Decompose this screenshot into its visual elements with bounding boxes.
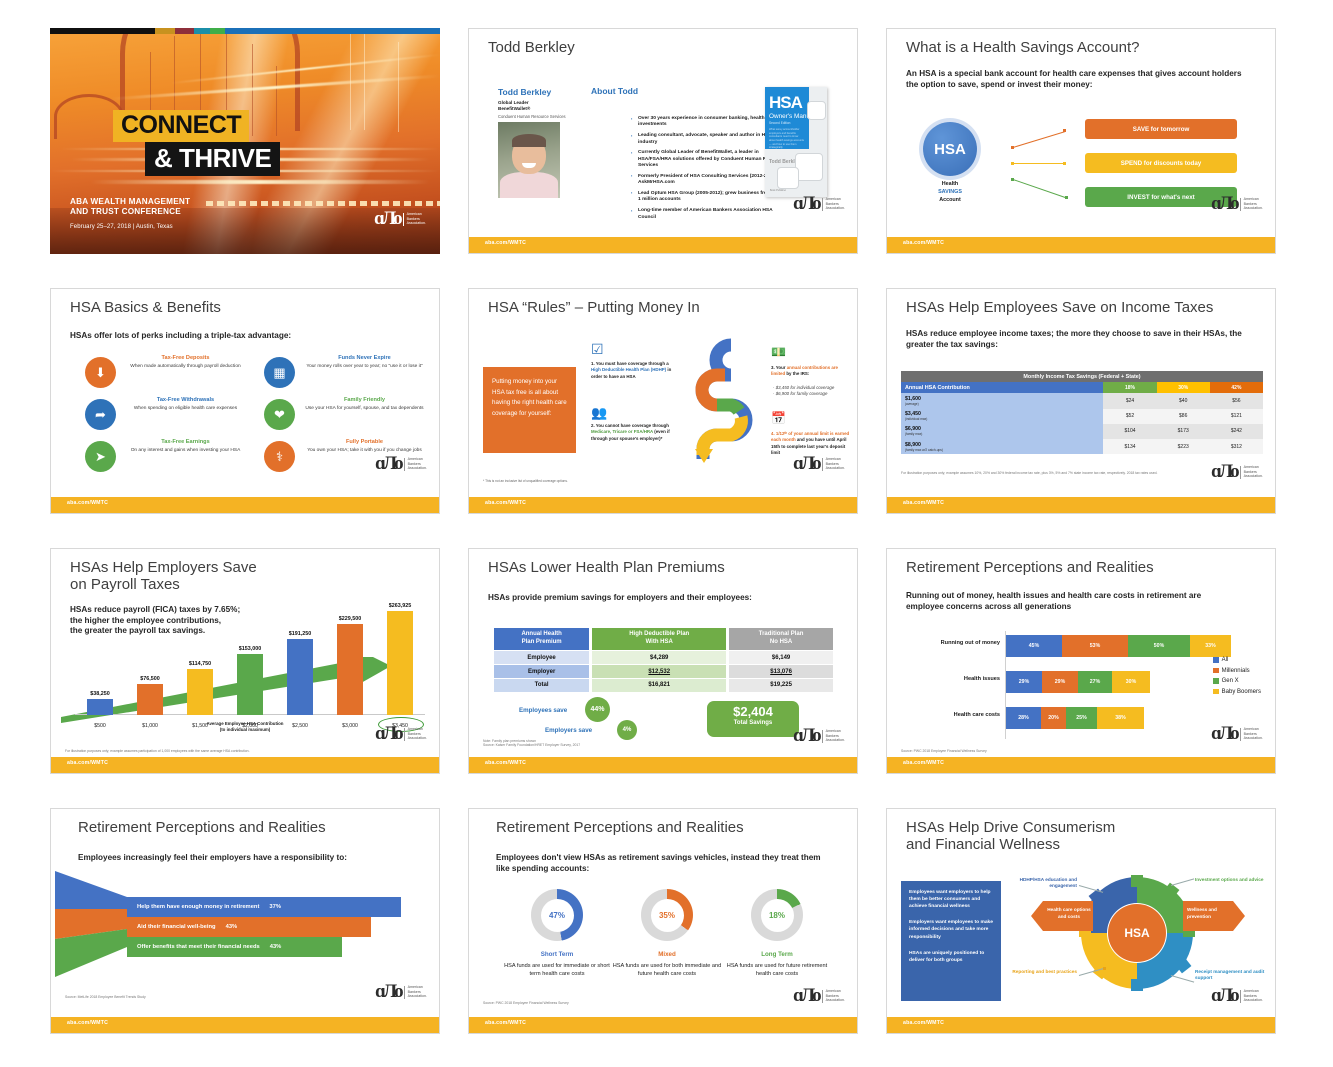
- title-thrive: & THRIVE: [145, 142, 280, 176]
- column-header: 30%: [1157, 382, 1210, 393]
- guardrail: [206, 201, 440, 206]
- leader-dot: [1169, 892, 1172, 895]
- slide-hsa-rules[interactable]: HSA “Rules” – Putting Money In Putting m…: [468, 288, 858, 514]
- page-subtitle: HSAs reduce employee income taxes; the m…: [906, 329, 1258, 350]
- bar: [287, 639, 313, 715]
- rule-3-sub: · $3,450 for individual coverage· $6,900…: [773, 385, 851, 398]
- aba-monogram-icon: ɑЛo: [1211, 461, 1237, 483]
- hsa-caption: HealthSAVINGSAccount: [923, 181, 977, 204]
- slide-consumerism[interactable]: HSAs Help Drive Consumerismand Financial…: [886, 808, 1276, 1034]
- table-row: Employer $12,532 $13,076: [494, 665, 833, 678]
- perk-heading: Tax-Free Deposits: [123, 355, 248, 361]
- page-title: Retirement Perceptions and Realities: [496, 820, 744, 837]
- money-icon: 💵: [771, 345, 786, 359]
- donut-long-term: 18%: [751, 889, 803, 941]
- segment-genx: 27%: [1078, 671, 1112, 693]
- connector-dot: [1065, 196, 1068, 199]
- bar-value: $229,500: [325, 616, 375, 622]
- bar: [187, 669, 213, 715]
- page-title: HSA “Rules” – Putting Money In: [488, 300, 700, 317]
- perk-heading: Family Friendly: [302, 397, 427, 403]
- aba-monogram-icon: ɑЛo: [375, 981, 401, 1003]
- slide-footer: aba.com/WMTC: [469, 237, 857, 253]
- perk-heading: Tax-Free Withdrawals: [123, 397, 248, 403]
- hsa-circle: HSA: [923, 122, 977, 176]
- source-note: Note: Family plan premiums shownSource: …: [483, 739, 580, 747]
- perk-text: When spending on eligible health care ex…: [123, 406, 248, 412]
- slide-employer-responsibility[interactable]: Retirement Perceptions and Realities Emp…: [50, 808, 440, 1034]
- aba-logo: ɑЛo AmericanBankersAssociation.: [1211, 985, 1263, 1007]
- segment-all: 28%: [1006, 707, 1041, 729]
- legend-item: All: [1213, 657, 1261, 663]
- bar-row-label: Health care costs: [954, 712, 1000, 718]
- donut-mixed: 35%: [641, 889, 693, 941]
- source-note: Source: PWC 2018 Employee Financial Well…: [901, 749, 987, 753]
- page-subtitle: An HSA is a special bank account for hea…: [906, 69, 1251, 90]
- legend-item: Baby Boomers: [1213, 689, 1261, 695]
- page-title: What is a Health Savings Account?: [906, 40, 1139, 57]
- segment-millennials: 53%: [1062, 635, 1128, 657]
- bar-value: $153,000: [225, 646, 275, 652]
- briefcase-icon: ⚕: [264, 441, 295, 472]
- donut-label: Mixed: [612, 951, 722, 958]
- table-row: $3,450(individual max) $52 $86 $121: [901, 409, 1263, 424]
- slide-payroll-tax[interactable]: HSAs Help Employers Saveon Payroll Taxes…: [50, 548, 440, 774]
- slide-footer: aba.com/WMTC: [51, 757, 439, 773]
- payroll-bar-chart: $38,250 $500 $76,500 $1,000 $114,750 $1,…: [75, 605, 425, 735]
- table-caption: Monthly Income Tax Savings (Federal + St…: [901, 371, 1263, 382]
- bar: [87, 699, 113, 715]
- callout-hdhp-education: HDHP/HSA education and engagement: [1011, 877, 1077, 890]
- connector-spend: [1013, 163, 1065, 164]
- slide-footer: aba.com/WMTC: [469, 757, 857, 773]
- hands-heart-icon: ❤: [264, 399, 295, 430]
- column-header: Annual HealthPlan Premium: [494, 628, 589, 650]
- callout-reporting: Reporting and best practices: [1011, 969, 1077, 975]
- slide-footer: aba.com/WMTC: [887, 237, 1275, 253]
- bar-row-health-care-costs: Health care costs 28% 20% 25% 38%: [1006, 707, 1145, 729]
- slide-what-is-hsa[interactable]: What is a Health Savings Account? An HSA…: [886, 28, 1276, 254]
- donut-description: HSA funds are used for future retirement…: [722, 963, 832, 979]
- aba-logo: ɑЛo AmericanBankersAssociation.: [793, 453, 845, 475]
- download-icon: ⬇: [85, 357, 116, 388]
- arrow-curve-icon: ➦: [85, 399, 116, 430]
- page-subtitle: Running out of money, health issues and …: [906, 591, 1236, 612]
- perk-heading: Fully Portable: [302, 439, 427, 445]
- aba-logo: ɑЛo AmericanBankersAssociation.: [1211, 461, 1263, 483]
- page-subtitle: HSAs offer lots of perks including a tri…: [70, 331, 291, 342]
- donut-description: HSA funds are used for both immediate an…: [612, 963, 722, 979]
- aba-monogram-icon: ɑЛo: [375, 723, 401, 745]
- slide-footer: aba.com/WMTC: [51, 497, 439, 513]
- column-header: High Deductible PlanWith HSA: [592, 628, 726, 650]
- bar-value: $114,750: [175, 661, 225, 667]
- slide-footer: aba.com/WMTC: [51, 1017, 439, 1033]
- footer-url: aba.com/WMTC: [67, 1020, 108, 1026]
- aba-logo: ɑЛo AmericanBankersAssociation.: [1211, 723, 1263, 745]
- segment-all: 29%: [1006, 671, 1042, 693]
- slide-hsa-basics[interactable]: HSA Basics & Benefits HSAs offer lots of…: [50, 288, 440, 514]
- employers-save-value: 4%: [617, 720, 637, 740]
- employers-save-label: Employers save: [545, 727, 592, 734]
- funnel-bar-2: Aid their financial well-being43%: [127, 917, 371, 937]
- column-header: 18%: [1103, 382, 1156, 393]
- bar-value: $263,925: [375, 603, 425, 609]
- segment-genx: 50%: [1128, 635, 1190, 657]
- book-edition: Second Edition: [769, 121, 790, 125]
- page-title: HSAs Help Employees Save on Income Taxes: [906, 300, 1213, 317]
- bar: [337, 624, 363, 715]
- column-header: Annual HSA Contribution: [901, 382, 1103, 393]
- bar-row-label: Health issues: [964, 676, 1000, 682]
- aba-monogram-icon: ɑЛo: [375, 453, 401, 475]
- page-title: HSAs Help Employers Saveon Payroll Taxes: [70, 560, 257, 594]
- segment-genx: 25%: [1066, 707, 1097, 729]
- perk-text: On any interest and gains when investing…: [123, 448, 248, 454]
- connector-dot: [1063, 162, 1066, 165]
- footnote: For illustration purposes only; example …: [65, 749, 250, 753]
- bar-row-label: Running out of money: [941, 640, 1000, 646]
- aba-logo: ɑЛo AmericanBankersAssociation.: [375, 981, 427, 1003]
- table-row: $1,600(average) $24 $40 $56: [901, 393, 1263, 408]
- funnel-bar-1: Help them have enough money in retiremen…: [127, 897, 401, 917]
- callout-paragraph: Employers want employees to make informe…: [909, 919, 993, 940]
- footer-url: aba.com/WMTC: [67, 760, 108, 766]
- donut-short-term: 47%: [531, 889, 583, 941]
- slide-footer: aba.com/WMTC: [887, 757, 1275, 773]
- segment-millennials: 20%: [1041, 707, 1066, 729]
- donut-label: Long Term: [722, 951, 832, 958]
- segment-all: 45%: [1006, 635, 1062, 657]
- footer-url: aba.com/WMTC: [485, 1020, 526, 1026]
- blue-callout-box: Employees want employers to help them be…: [901, 881, 1001, 1001]
- segment-boomers: 33%: [1190, 635, 1231, 657]
- slide-income-tax-savings[interactable]: HSAs Help Employees Save on Income Taxes…: [886, 288, 1276, 514]
- segment-boomers: 38%: [1097, 707, 1144, 729]
- calendar-icon: ▦: [264, 357, 295, 388]
- connector-dot: [1011, 178, 1014, 181]
- leader-dot: [1169, 967, 1172, 970]
- aba-logo: ɑЛo AmericanBankersAssociation.: [1211, 193, 1263, 215]
- funnel-bar-3: Offer benefits that meet their financial…: [127, 937, 342, 957]
- source-note: Source: PWC 2018 Employee Financial Well…: [483, 1001, 569, 1005]
- leader-dot: [1103, 892, 1106, 895]
- table-row: $6,900(family max) $104 $173 $242: [901, 424, 1263, 439]
- slide-retirement-concerns[interactable]: Retirement Perceptions and Realities Run…: [886, 548, 1276, 774]
- bar: [237, 654, 263, 715]
- callout-health-care: Health care options and costs: [1045, 907, 1093, 920]
- segment-millennials: 29%: [1042, 671, 1078, 693]
- page-title: Retirement Perceptions and Realities: [78, 820, 326, 837]
- column-header: 42%: [1210, 382, 1263, 393]
- option-save-button[interactable]: SAVE for tomorrow: [1085, 119, 1237, 139]
- callout-investment-options: Investment options and advice: [1195, 877, 1265, 883]
- footer-url: aba.com/WMTC: [903, 240, 944, 246]
- connector-dot: [1011, 162, 1014, 165]
- slide-footer: aba.com/WMTC: [887, 497, 1275, 513]
- employees-save-label: Employees save: [519, 707, 567, 714]
- legend-item: Gen X: [1213, 678, 1261, 684]
- slide-premiums[interactable]: HSAs Lower Health Plan Premiums HSAs pro…: [468, 548, 858, 774]
- aba-logo: ɑЛo AmericanBankersAssociation.: [793, 725, 845, 747]
- bio-role: Global LeaderBenefitWallet®: [498, 100, 530, 112]
- segment-boomers: 30%: [1112, 671, 1150, 693]
- column-header: Traditional PlanNo HSA: [729, 628, 833, 650]
- footer-url: aba.com/WMTC: [903, 760, 944, 766]
- bar-value: $38,250: [75, 691, 125, 697]
- page-subtitle: Employees don't view HSAs as retirement …: [496, 853, 831, 874]
- page-subtitle: Employees increasingly feel their employ…: [78, 853, 418, 864]
- slide-deck-grid: CONNECT & THRIVE ABA WEALTH MANAGEMENT A…: [0, 0, 1333, 1067]
- book-cover-image: HSA Owner's Manual Second Edition What s…: [765, 87, 827, 197]
- page-subtitle: HSAs provide premium savings for employe…: [488, 593, 752, 604]
- tax-savings-table: Monthly Income Tax Savings (Federal + St…: [901, 371, 1263, 454]
- total-savings-box: $2,404Total Savings: [707, 701, 799, 737]
- slide-footer: aba.com/WMTC: [469, 497, 857, 513]
- aba-monogram-icon: ɑЛo: [1211, 723, 1237, 745]
- perk-heading: Funds Never Expire: [302, 355, 427, 361]
- footnote: * This is not an inclusive list of unqua…: [483, 479, 568, 483]
- footnote: For illustration purposes only; example …: [901, 471, 1157, 475]
- gear-center-label: HSA: [1108, 904, 1166, 962]
- list-item: Long-time member of American Bankers Ass…: [631, 208, 789, 221]
- page-title: Todd Berkley: [488, 40, 575, 57]
- calendar-icon: 📅: [771, 411, 786, 425]
- aba-monogram-icon: ɑЛo: [1211, 193, 1237, 215]
- book-blurb: What savvy accountholder employers and b…: [769, 128, 805, 150]
- checkbox-icon: ☑: [591, 341, 604, 358]
- aba-monogram-icon: ɑЛo: [793, 193, 819, 215]
- donut-value: 35%: [651, 899, 684, 932]
- callout-paragraph: Employees want employers to help them be…: [909, 889, 993, 910]
- aba-logo: ɑЛo AmericanBankersAssociation.: [793, 985, 845, 1007]
- slide-title[interactable]: CONNECT & THRIVE ABA WEALTH MANAGEMENT A…: [50, 28, 440, 254]
- rule-1: 1. You must have coverage through a High…: [591, 361, 677, 380]
- bar: [137, 684, 163, 715]
- paper-plane-icon: ➤: [85, 441, 116, 472]
- aba-logo: ɑЛo AmericanBankersAssociation.: [375, 723, 427, 745]
- bar-value: $76,500: [125, 676, 175, 682]
- callout-receipt-management: Receipt management and audit support: [1195, 969, 1267, 982]
- slide-speaker[interactable]: Todd Berkley Todd Berkley Global LeaderB…: [468, 28, 858, 254]
- footer-url: aba.com/WMTC: [485, 500, 526, 506]
- footer-url: aba.com/WMTC: [485, 240, 526, 246]
- footer-url: aba.com/WMTC: [67, 500, 108, 506]
- aba-logo: ɑЛo AmericanBankersAssociation.: [793, 193, 845, 215]
- donut-value: 18%: [761, 899, 794, 932]
- perk-heading: Tax-Free Earnings: [123, 439, 248, 445]
- rule-3: 3. Your annual contributions are limited…: [771, 365, 849, 378]
- aba-monogram-icon: ɑЛo: [1211, 985, 1237, 1007]
- connector-save: [1013, 131, 1065, 148]
- callout-paragraph: HSAs are uniquely positioned to deliver …: [909, 950, 993, 964]
- aba-monogram-icon: ɑЛo: [793, 985, 819, 1007]
- people-icon: 👥: [591, 405, 607, 421]
- chart-legend: All Millennials Gen X Baby Boomers: [1213, 657, 1261, 699]
- connector-dot: [1011, 146, 1014, 149]
- bio-company: Conduent Human Resource Services: [498, 114, 566, 119]
- table-row: Employee $4,289 $6,149: [494, 651, 833, 664]
- page-title: HSA Basics & Benefits: [70, 300, 221, 317]
- aba-monogram-icon: ɑЛo: [793, 453, 819, 475]
- conference-name: ABA WEALTH MANAGEMENT AND TRUST CONFEREN…: [70, 197, 190, 218]
- rule-2: 2. You cannot have coverage through Medi…: [591, 423, 681, 442]
- bar: [387, 611, 413, 715]
- aba-monogram-icon: ɑЛo: [793, 725, 819, 747]
- speaker-headshot: [498, 122, 560, 198]
- leader-dot: [1103, 967, 1106, 970]
- title-connect: CONNECT: [113, 110, 249, 142]
- about-heading: About Todd: [591, 86, 638, 96]
- aba-logo: ɑЛo AmericanBankersAssociation.: [374, 208, 426, 230]
- book-publisher: Book Publisher: [770, 189, 786, 192]
- bar-value: $191,250: [275, 631, 325, 637]
- table-row: $8,900(family max w/2 catch-ups) $134 $2…: [901, 439, 1263, 454]
- donut-description: HSA funds are used for immediate or shor…: [502, 963, 612, 979]
- conference-date-location: February 25–27, 2018 | Austin, Texas: [70, 224, 173, 230]
- footer-url: aba.com/WMTC: [903, 500, 944, 506]
- aba-monogram-icon: ɑЛo: [374, 208, 400, 230]
- aba-logo: ɑЛo AmericanBankersAssociation.: [375, 453, 427, 475]
- perk-text: Your money rolls over year to year; no “…: [302, 364, 427, 370]
- premium-table: Annual HealthPlan Premium High Deductibl…: [491, 627, 836, 693]
- book-title: HSA: [769, 93, 802, 113]
- option-spend-button[interactable]: SPEND for discounts today: [1085, 153, 1237, 173]
- table-row: Total $16,821 $19,225: [494, 679, 833, 692]
- footer-url: aba.com/WMTC: [485, 760, 526, 766]
- footer-url: aba.com/WMTC: [903, 1020, 944, 1026]
- donut-label: Short Term: [502, 951, 612, 958]
- about-bullet-list: Over 30 years experience in consumer ban…: [591, 116, 789, 225]
- legend-item: Millennials: [1213, 668, 1261, 674]
- bar-row-running-out-of-money: Running out of money 45% 53% 50% 33%: [1006, 635, 1228, 657]
- slide-footer: aba.com/WMTC: [887, 1017, 1275, 1033]
- bio-name: Todd Berkley: [498, 87, 551, 97]
- perk-text: Use your HSA for yourself, spouse, and t…: [302, 406, 427, 412]
- page-title: HSAs Lower Health Plan Premiums: [488, 560, 725, 577]
- page-title: Retirement Perceptions and Realities: [906, 560, 1154, 577]
- slide-footer: aba.com/WMTC: [469, 1017, 857, 1033]
- employees-save-value: 44%: [585, 697, 610, 722]
- perk-text: When made automatically through payroll …: [123, 364, 248, 370]
- s-curve-ribbon: [685, 337, 759, 467]
- donut-value: 47%: [541, 899, 574, 932]
- slide-hsa-spending-views[interactable]: Retirement Perceptions and Realities Emp…: [468, 808, 858, 1034]
- source-note: Source: MetLife 2018 Employee Benefit Tr…: [65, 995, 146, 999]
- connector-invest: [1013, 179, 1066, 198]
- callout-wellness: Wellness and prevention: [1187, 907, 1235, 920]
- connector-dot: [1063, 129, 1066, 132]
- brand-color-bar: [50, 28, 440, 34]
- bar-row-health-issues: Health issues 29% 29% 27% 30%: [1006, 671, 1151, 693]
- callout-box: Putting money into your HSA tax free is …: [483, 367, 576, 453]
- page-title: HSAs Help Drive Consumerismand Financial…: [906, 820, 1115, 854]
